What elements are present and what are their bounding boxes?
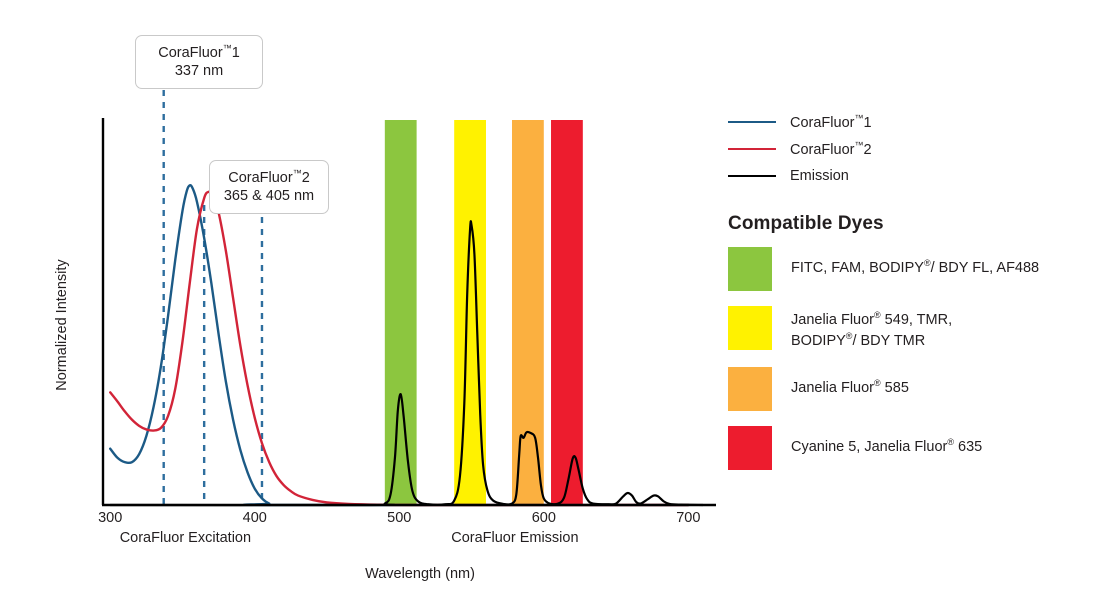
dye-label-1: Janelia Fluor® 549, TMR,BODIPY®/ BDY TMR — [791, 306, 952, 352]
orange-band — [512, 120, 544, 505]
compatible-dyes-list: FITC, FAM, BODIPY®/ BDY FL, AF488Janelia… — [728, 247, 1110, 470]
legend-label-corafluor1: CoraFluor™1 — [790, 113, 872, 131]
legend-item-corafluor1: CoraFluor™1 — [728, 108, 1110, 135]
dye-color-swatch-2 — [728, 367, 772, 411]
registered-icon: ® — [924, 258, 931, 268]
x-axis-tick-400: 400 — [225, 510, 285, 526]
dye-color-swatch-3 — [728, 426, 772, 470]
x-axis-sublabel-emission: CoraFluor Emission — [415, 530, 615, 546]
dye-color-swatch-1 — [728, 306, 772, 350]
x-axis-title: Wavelength (nm) — [300, 566, 540, 582]
spectra-figure: CoraFluor™1 337 nm CoraFluor™2 365 & 405… — [0, 0, 1110, 612]
x-axis-tick-500: 500 — [369, 510, 429, 526]
registered-icon: ® — [874, 310, 881, 320]
dye-row-2: Janelia Fluor® 585 — [728, 367, 1110, 411]
callout-corafluor1: CoraFluor™1 337 nm — [135, 35, 263, 89]
compatible-dyes-heading: Compatible Dyes — [728, 213, 1110, 235]
x-axis-sublabel-excitation: CoraFluor Excitation — [85, 530, 285, 546]
dye-label-line: Cyanine 5, Janelia Fluor® 635 — [791, 436, 982, 457]
legend-panel: CoraFluor™1 CoraFluor™2 Emission Compati… — [728, 108, 1110, 485]
trademark-icon: ™ — [293, 168, 302, 178]
registered-icon: ® — [874, 378, 881, 388]
dye-label-line: Janelia Fluor® 585 — [791, 377, 909, 398]
dye-label-line: FITC, FAM, BODIPY®/ BDY FL, AF488 — [791, 257, 1039, 278]
dye-label-2: Janelia Fluor® 585 — [791, 367, 909, 398]
registered-icon: ® — [947, 437, 954, 447]
x-axis-tick-700: 700 — [658, 510, 718, 526]
green-band — [385, 120, 417, 505]
callout-corafluor2-value: 365 & 405 nm — [222, 187, 316, 205]
legend-label-corafluor2: CoraFluor™2 — [790, 140, 872, 158]
legend-line-swatch-corafluor2 — [728, 148, 776, 150]
y-axis-title: Normalized Intensity — [54, 240, 70, 410]
registered-icon: ® — [846, 331, 853, 341]
dye-row-1: Janelia Fluor® 549, TMR,BODIPY®/ BDY TMR — [728, 306, 1110, 352]
legend-item-emission: Emission — [728, 162, 1110, 189]
dye-row-3: Cyanine 5, Janelia Fluor® 635 — [728, 426, 1110, 470]
legend-line-swatch-corafluor1 — [728, 121, 776, 123]
dye-label-0: FITC, FAM, BODIPY®/ BDY FL, AF488 — [791, 247, 1039, 278]
dye-label-line: BODIPY®/ BDY TMR — [791, 330, 952, 351]
callout-corafluor1-title: CoraFluor™1 — [148, 43, 250, 62]
red-band — [551, 120, 583, 505]
trademark-icon: ™ — [223, 43, 232, 53]
callout-corafluor1-value: 337 nm — [148, 62, 250, 80]
dye-label-line: Janelia Fluor® 549, TMR, — [791, 309, 952, 330]
legend-item-corafluor2: CoraFluor™2 — [728, 135, 1110, 162]
callout-corafluor2: CoraFluor™2 365 & 405 nm — [209, 160, 329, 214]
dye-color-swatch-0 — [728, 247, 772, 291]
legend-line-swatch-emission — [728, 175, 776, 177]
callout-corafluor2-title: CoraFluor™2 — [222, 168, 316, 187]
dye-label-3: Cyanine 5, Janelia Fluor® 635 — [791, 426, 982, 457]
x-axis-tick-300: 300 — [80, 510, 140, 526]
x-axis-tick-600: 600 — [514, 510, 574, 526]
legend-label-emission: Emission — [790, 168, 849, 184]
dye-row-0: FITC, FAM, BODIPY®/ BDY FL, AF488 — [728, 247, 1110, 291]
